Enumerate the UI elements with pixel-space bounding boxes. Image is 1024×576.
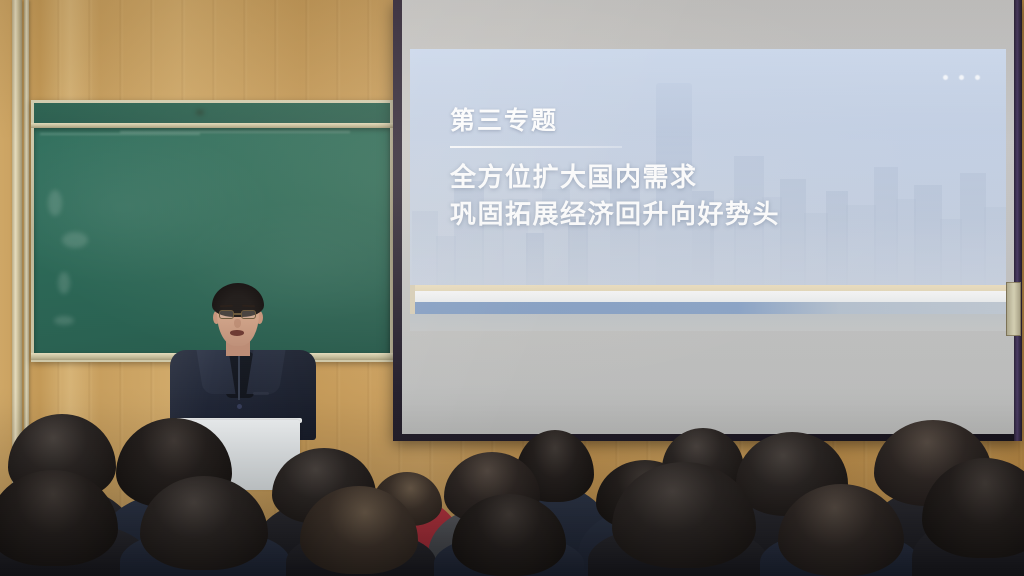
slide-text-block: 第三专题 全方位扩大国内需求 巩固拓展经济回升向好势头 bbox=[450, 101, 780, 233]
slide-kicker: 第三专题 bbox=[450, 101, 780, 137]
presentation-slide: 第三专题 全方位扩大国内需求 巩固拓展经济回升向好势头 bbox=[410, 49, 1006, 331]
presenter-mouth bbox=[230, 330, 244, 336]
presenter-nose bbox=[234, 319, 241, 328]
decor-dot-icon bbox=[959, 75, 964, 80]
waterfront-white-band bbox=[410, 291, 1006, 302]
eyeglasses-bridge bbox=[234, 313, 241, 315]
decor-dot-icon bbox=[975, 75, 980, 80]
waterfront-grey-band bbox=[410, 314, 1006, 331]
slide-kicker-rule bbox=[450, 146, 622, 148]
slide-headline-line2: 巩固拓展经济回升向好势头 bbox=[450, 198, 780, 233]
eyeglasses-lens-left bbox=[219, 310, 234, 319]
eyeglasses-lens-right bbox=[241, 310, 256, 319]
decor-dot-icon bbox=[943, 75, 948, 80]
lecture-hall-scene: 第三专题 全方位扩大国内需求 巩固拓展经济回升向好势头 bbox=[0, 0, 1024, 576]
decor-dots bbox=[943, 75, 980, 80]
waterfront-left-post bbox=[410, 285, 415, 314]
slide-headline-line1: 全方位扩大国内需求 bbox=[450, 161, 780, 196]
waterfront-blue-band bbox=[410, 302, 1006, 314]
